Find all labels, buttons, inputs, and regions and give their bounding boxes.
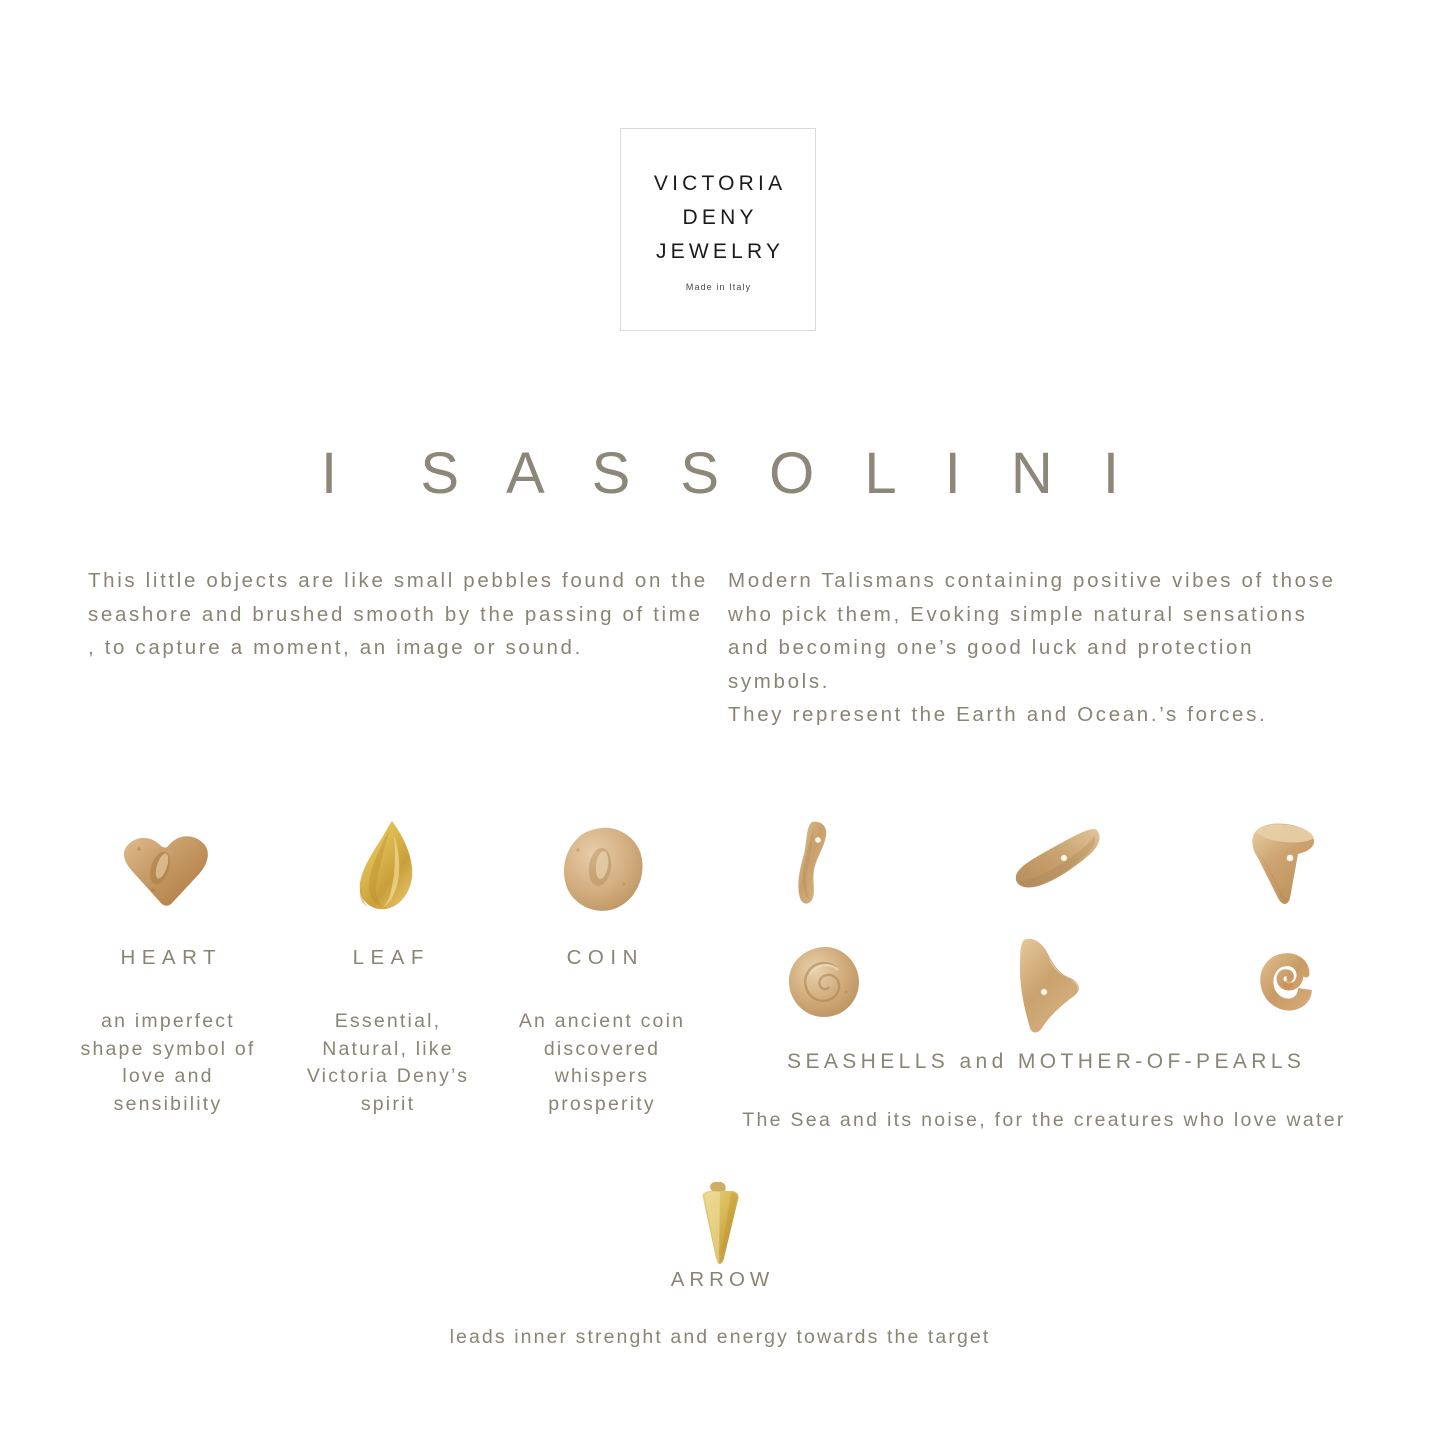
arrow-label: ARROW xyxy=(0,1268,1440,1292)
poster-canvas: VICTORIA DENY JEWELRY Made in Italy I S … xyxy=(0,0,1440,1440)
intro-paragraph-right: Modern Talismans containing positive vib… xyxy=(728,564,1358,732)
brand-line-jewelry: JEWELRY xyxy=(652,235,784,269)
spiral-shell-icon xyxy=(1258,952,1318,1014)
intro-text-left: This little objects are like small pebbl… xyxy=(88,564,708,665)
intro-text-right: Modern Talismans containing positive vib… xyxy=(728,564,1358,732)
charm-description-heart: an imperfect shape symbol of love and se… xyxy=(68,1008,268,1118)
seashell-triangle-icon xyxy=(1240,818,1324,910)
coin-charm-icon xyxy=(502,808,702,930)
mother-of-pearl-wave-icon xyxy=(1008,934,1088,1038)
charm-card-heart: HEART an imperfect shape symbol of love … xyxy=(68,808,268,1118)
brand-made-in-italy: Made in Italy xyxy=(685,282,751,292)
seashell-curved-icon xyxy=(790,818,850,908)
brand-logo: VICTORIA DENY JEWELRY Made in Italy xyxy=(620,128,816,331)
charm-label-coin: COIN xyxy=(502,946,702,970)
shells-heading: SEASHELLS and MOTHER-OF-PEARLS xyxy=(728,1050,1360,1074)
charm-card-coin: COIN An ancient coin discovered whispers… xyxy=(502,808,702,1118)
leaf-charm-icon xyxy=(288,808,488,930)
charm-label-leaf: LEAF xyxy=(288,946,488,970)
brand-line-victoria: VICTORIA xyxy=(650,167,787,201)
mother-of-pearl-leaf-icon xyxy=(1010,826,1106,898)
spiral-shell-disc-icon xyxy=(786,944,862,1020)
intro-paragraph-left: This little objects are like small pebbl… xyxy=(88,564,708,665)
arrow-description: leads inner strenght and energy towards … xyxy=(370,1322,1070,1352)
brand-line-deny: DENY xyxy=(678,201,757,235)
charm-description-coin: An ancient coin discovered whispers pros… xyxy=(502,1008,702,1118)
charm-card-leaf: LEAF Essential, Natural, like Victoria D… xyxy=(288,808,488,1118)
charm-description-leaf: Essential, Natural, like Victoria Deny’s… xyxy=(288,1008,488,1118)
charm-label-heart: HEART xyxy=(68,946,268,970)
arrow-charm-icon xyxy=(0,1182,1440,1268)
heart-charm-icon xyxy=(68,808,268,930)
shells-description: The Sea and its noise, for the creatures… xyxy=(728,1105,1360,1135)
page-title: I S A S S O L I N I xyxy=(0,440,1440,507)
